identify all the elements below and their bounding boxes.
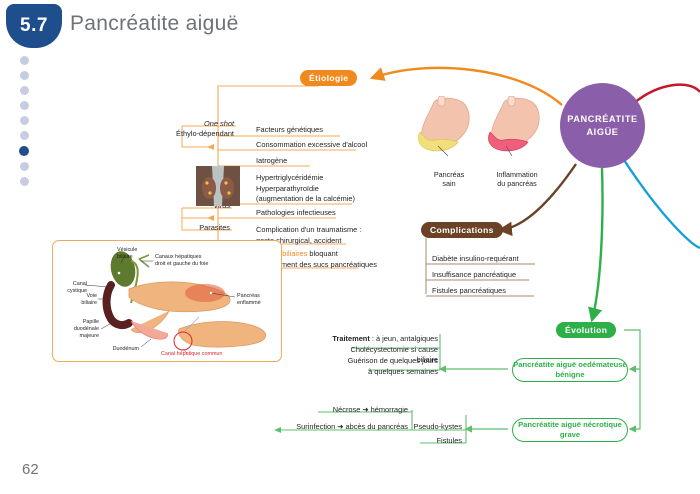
evolution-superinfection: Surinfection ➜ abcès du pancréas [270,422,408,433]
pseudo-kystes-text: Pseudo-kystes [414,422,462,431]
etiologie-item-text: Iatrogène [256,156,287,165]
anatomy-label-voie-biliaire: Voie biliaire [61,293,97,307]
pill-etiologie-label: Étiologie [309,73,348,83]
caption-inflamed-line2: du pancréas [497,179,537,188]
anatomy-label-papille-duodenale: Papille duodénale majeure [53,319,99,339]
etiologie-sublabel-ethylo: Éthylo-dépendant [140,129,234,140]
evolution-box-benign[interactable]: Pancréatite aiguë oedémateuse bénigne [512,358,628,382]
vesicule-l2: biliaire [117,254,133,260]
caption-healthy-line1: Pancréas [434,170,464,179]
caption-inflamed-pancreas: Inflammation du pancréas [476,170,558,189]
etiologie-item-text: Facteurs génétiques [256,125,323,134]
voie-l2: biliaire [81,300,97,306]
caption-inflamed-line1: Inflammation [496,170,537,179]
complications-item-fistules: Fistules pancréatiques [432,286,506,297]
anatomy-label-canal-hepatique-commun: Canal hépatique commun [161,351,222,357]
evolution-benign-label: Pancréatite aiguë oedémateuse bénigne [513,360,627,380]
anatomy-label-vesicule-biliaire: Vésicule biliaire [117,247,157,261]
anatomy-label-pancreas-enflamme: Pancréas enflammé [237,293,281,307]
calculs-rest-text: bloquant [307,249,337,258]
central-node-label: PANCRÉATITE AIGÜE [560,113,645,138]
healing-line2-text: à quelques semaines [368,367,438,376]
one-shot-text: One shot [204,119,234,128]
etiologie-item-iatrogene: Iatrogène [256,156,287,167]
page-root: 5.7 Pancréatite aiguë 62 [0,0,700,494]
complications-item-insuffisance: Insuffisance pancréatique [432,270,516,281]
papille-l1: Papille [83,319,99,325]
pancreas-l2: enflammé [237,300,261,306]
evolution-severe-label: Pancréatite aiguë nécrotique grave [513,420,627,440]
voie-l1: Voie [87,293,98,299]
etiologie-item-text: Pathologies infectieuses [256,208,336,217]
necrosis-text: Nécrose ➜ hémorragie [333,405,408,414]
evolution-fistules: Fistules [420,436,462,447]
anatomy-label-duodenum: Duodénum [101,346,139,353]
caption-healthy-line2: sain [442,179,455,188]
complications-item-text: Fistules pancréatiques [432,286,506,295]
ethylo-text: Éthylo-dépendant [176,129,234,138]
complications-item-diabete: Diabète insulino-requérant [432,254,519,265]
etiologie-item-text-l1: Hypertriglycéridémie [256,173,323,182]
pill-evolution-label: Évolution [565,325,607,335]
papille-l3: majeure [80,333,99,339]
duodenum-text: Duodénum [113,346,139,352]
superinfection-text: Surinfection ➜ abcès du pancréas [296,422,408,431]
anatomy-label-canaux-hepatiques: Canaux hépatiques droit et gauche du foi… [155,254,229,268]
organ-illustrations [416,96,556,166]
branch-pill-complications[interactable]: Complications [421,222,503,238]
branch-pill-etiologie[interactable]: Étiologie [300,70,357,86]
anatomy-inset-card: Vésicule biliaire Canaux hépatiques droi… [52,240,282,362]
caption-healthy-pancreas: Pancréas sain [416,170,482,189]
central-node-pancreatite-aigue[interactable]: PANCRÉATITE AIGÜE [560,83,645,168]
pill-complications-label: Complications [430,225,494,235]
canal-cystique-text: Canal cystique [67,281,87,294]
vesicule-l1: Vésicule [117,247,137,253]
parathyroid-photo-thumbnail [196,166,240,206]
pancreas-l1: Pancréas [237,293,260,299]
canaux-l1: Canaux hépatiques [155,254,201,260]
healing-line1-text: Guérison de quelques jours [348,356,438,365]
canaux-l2: droit et gauche du foie [155,261,208,267]
evolution-pseudo-kystes: Pseudo-kystes [410,422,462,433]
canal-hepatique-text: Canal hépatique commun [161,351,222,357]
complications-item-text: Diabète insulino-requérant [432,254,519,263]
parasites-text: Parasites [199,223,230,232]
etiologie-item-text-l3: (augmentation de la calcémie) [256,194,355,203]
branch-pill-evolution[interactable]: Évolution [556,322,616,338]
etiologie-item-pathologies-infectieuses: Pathologies infectieuses [256,208,336,219]
treatment-bold-text: Traitement [332,334,369,343]
etiologie-sublabel-parasites: Parasites [152,223,230,234]
fistules-text: Fistules [437,436,462,445]
etiologie-item-facteurs-genetiques: Facteurs génétiques [256,125,323,136]
etiologie-item-hypertriglyceridemie: Hypertriglycéridémie Hyperparathyroïdie … [256,173,355,205]
etiologie-item-text: Consommation excessive d'alcool [256,140,367,149]
complications-item-text: Insuffisance pancréatique [432,270,516,279]
etiologie-item-text-l2: Hyperparathyroïdie [256,184,319,193]
treatment-rest-text: : à jeun, antalgiques [370,334,438,343]
evolution-box-severe[interactable]: Pancréatite aiguë nécrotique grave [512,418,628,442]
etiologie-item-text-l1: Complication d'un traumatisme : [256,225,361,234]
evolution-necrosis: Nécrose ➜ hémorragie [300,405,408,416]
etiologie-item-alcool: Consommation excessive d'alcool [256,140,367,151]
evolution-healing: Guérison de quelques jours à quelques se… [340,356,438,377]
papille-l2: duodénale [74,326,99,332]
